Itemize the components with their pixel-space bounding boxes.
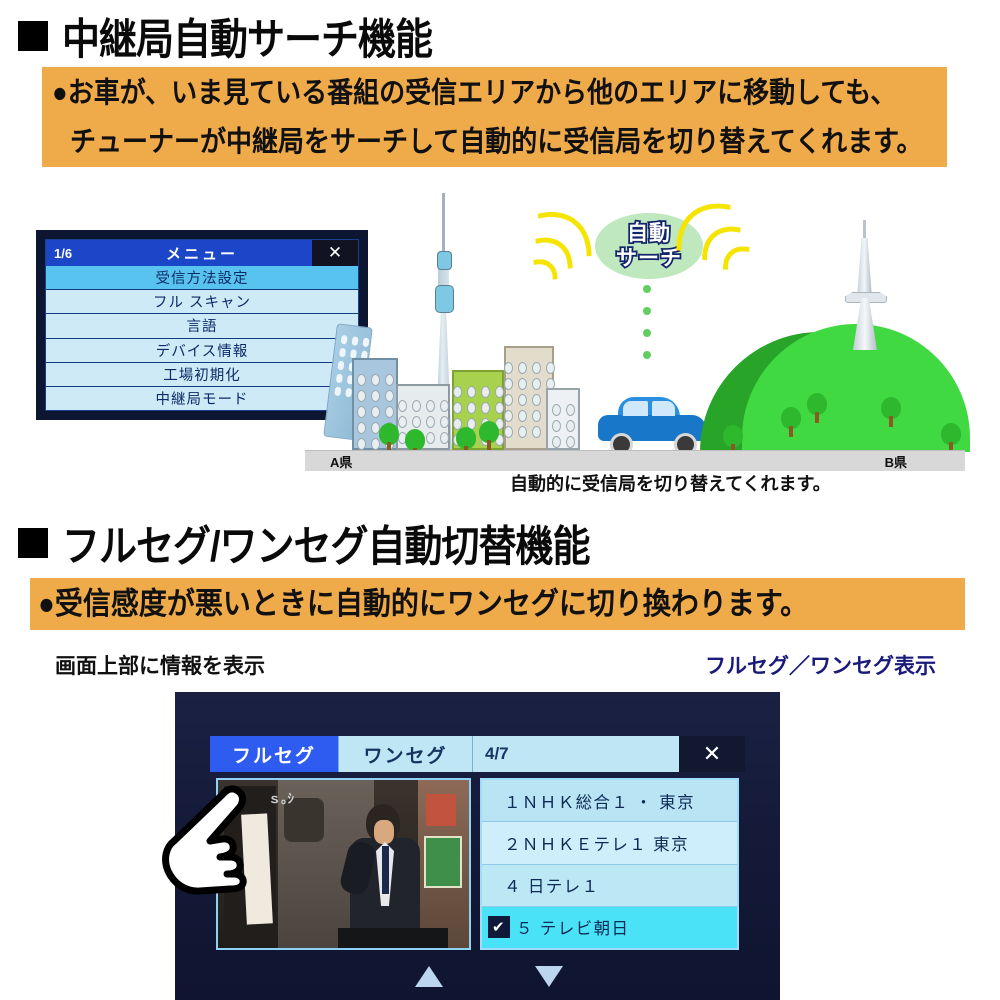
illustration-caption: 自動的に受信局を切り替えてくれます。	[510, 470, 831, 496]
scroll-up-arrow-icon[interactable]	[415, 966, 443, 987]
search-dotted-line	[643, 285, 653, 357]
caption-fullseg-oneseg-display: フルセグ／ワンセグ表示	[705, 650, 936, 680]
section-2-banner: ●受信感度が悪いときに自動的にワンセグに切り換わります。	[30, 578, 965, 630]
bullet-square-icon	[18, 528, 48, 558]
menu-item-4[interactable]: 工場初期化	[46, 363, 358, 387]
tv-nav-row	[210, 964, 745, 994]
menu-title-bar: 1/6 メニュー ✕	[46, 240, 358, 266]
tree-icon	[780, 407, 802, 437]
auto-search-badge-line-1: 自動	[627, 221, 671, 246]
channel-row-3-label: ５ テレビ朝日	[516, 915, 629, 939]
section-1-heading: 中継局自動サーチ機能	[18, 8, 432, 63]
infographic-page: 中継局自動サーチ機能 ●お車が、いま見ている番組の受信エリアから他のエリアに移動…	[0, 0, 1000, 1000]
building-white-small	[546, 388, 580, 450]
menu-item-0[interactable]: 受信方法設定	[46, 266, 358, 290]
tv-page-indicator: 4/7	[472, 736, 679, 772]
section-2-banner-line-1: ●受信感度が悪いときに自動的にワンセグに切り換わります。	[38, 575, 965, 632]
section-1-banner-line-1: ●お車が、いま見ている番組の受信エリアから他のエリアに移動しても、	[52, 66, 947, 120]
tv-tab-bar: フルセグ ワンセグ 4/7 ✕	[210, 736, 745, 772]
section-2-heading-text: フルセグ/ワンセグ自動切替機能	[62, 512, 590, 574]
menu-close-icon[interactable]: ✕	[312, 240, 358, 266]
ground-strip: A県 B県	[305, 450, 965, 471]
channel-checkbox-icon[interactable]: ✔	[488, 916, 510, 938]
bullet-square-icon	[18, 21, 48, 51]
tuner-menu-screen: 1/6 メニュー ✕ 受信方法設定 フル スキャン 言語 デバイス情報 工場初期…	[45, 239, 359, 411]
tv-close-icon[interactable]: ✕	[679, 736, 745, 772]
channel-row-0[interactable]: １ＮＨＫ総合１ ・ 東京	[482, 780, 737, 822]
tree-icon	[940, 423, 962, 453]
menu-item-3[interactable]: デバイス情報	[46, 339, 358, 363]
tree-icon	[378, 423, 400, 453]
tv-monitor: フルセグ ワンセグ 4/7 ✕ ｓ｡	[175, 692, 780, 1000]
pointing-hand-cursor-icon	[160, 785, 256, 897]
car-icon	[598, 397, 706, 449]
tv-screen: フルセグ ワンセグ 4/7 ✕ ｓ｡	[210, 736, 745, 958]
channel-row-3[interactable]: ✔ ５ テレビ朝日	[482, 907, 737, 948]
menu-item-5[interactable]: 中継局モード	[46, 387, 358, 410]
tab-fullseg[interactable]: フルセグ	[210, 736, 338, 772]
tab-oneseg[interactable]: ワンセグ	[338, 736, 472, 772]
menu-item-1[interactable]: フル スキャン	[46, 290, 358, 314]
channel-row-2[interactable]: ４ 日テレ１	[482, 865, 737, 907]
section-1-heading-text: 中継局自動サーチ機能	[62, 5, 432, 67]
auto-search-badge-line-2: サーチ	[616, 246, 682, 271]
relay-search-illustration: 1/6 メニュー ✕ 受信方法設定 フル スキャン 言語 デバイス情報 工場初期…	[0, 185, 1000, 495]
section-1-banner: ●お車が、いま見ている番組の受信エリアから他のエリアに移動しても、 チューナーが…	[42, 67, 947, 167]
section-2-heading: フルセグ/ワンセグ自動切替機能	[18, 515, 590, 570]
channel-row-1[interactable]: ２ＮＨＫＥテレ１ 東京	[482, 822, 737, 864]
tuner-menu-device: 1/6 メニュー ✕ 受信方法設定 フル スキャン 言語 デバイス情報 工場初期…	[36, 230, 368, 420]
area-label-right: B県	[885, 452, 907, 471]
menu-item-2[interactable]: 言語	[46, 314, 358, 338]
area-label-left: A県	[330, 452, 352, 471]
tree-icon	[478, 421, 500, 451]
tree-icon	[806, 393, 828, 423]
section-1-banner-line-2: チューナーが中継局をサーチして自動的に受信局を切り替えてくれます。	[70, 115, 947, 169]
tree-icon	[880, 397, 902, 427]
caption-screen-top-info: 画面上部に情報を表示	[55, 650, 265, 680]
scroll-down-arrow-icon[interactable]	[535, 966, 563, 987]
video-sign-text: ｓ｡ｼ	[268, 788, 310, 806]
channel-list: １ＮＨＫ総合１ ・ 東京 ２ＮＨＫＥテレ１ 東京 ４ 日テレ１ ✔ ５ テレビ朝…	[480, 778, 739, 950]
relay-station-tower-icon	[845, 220, 885, 350]
